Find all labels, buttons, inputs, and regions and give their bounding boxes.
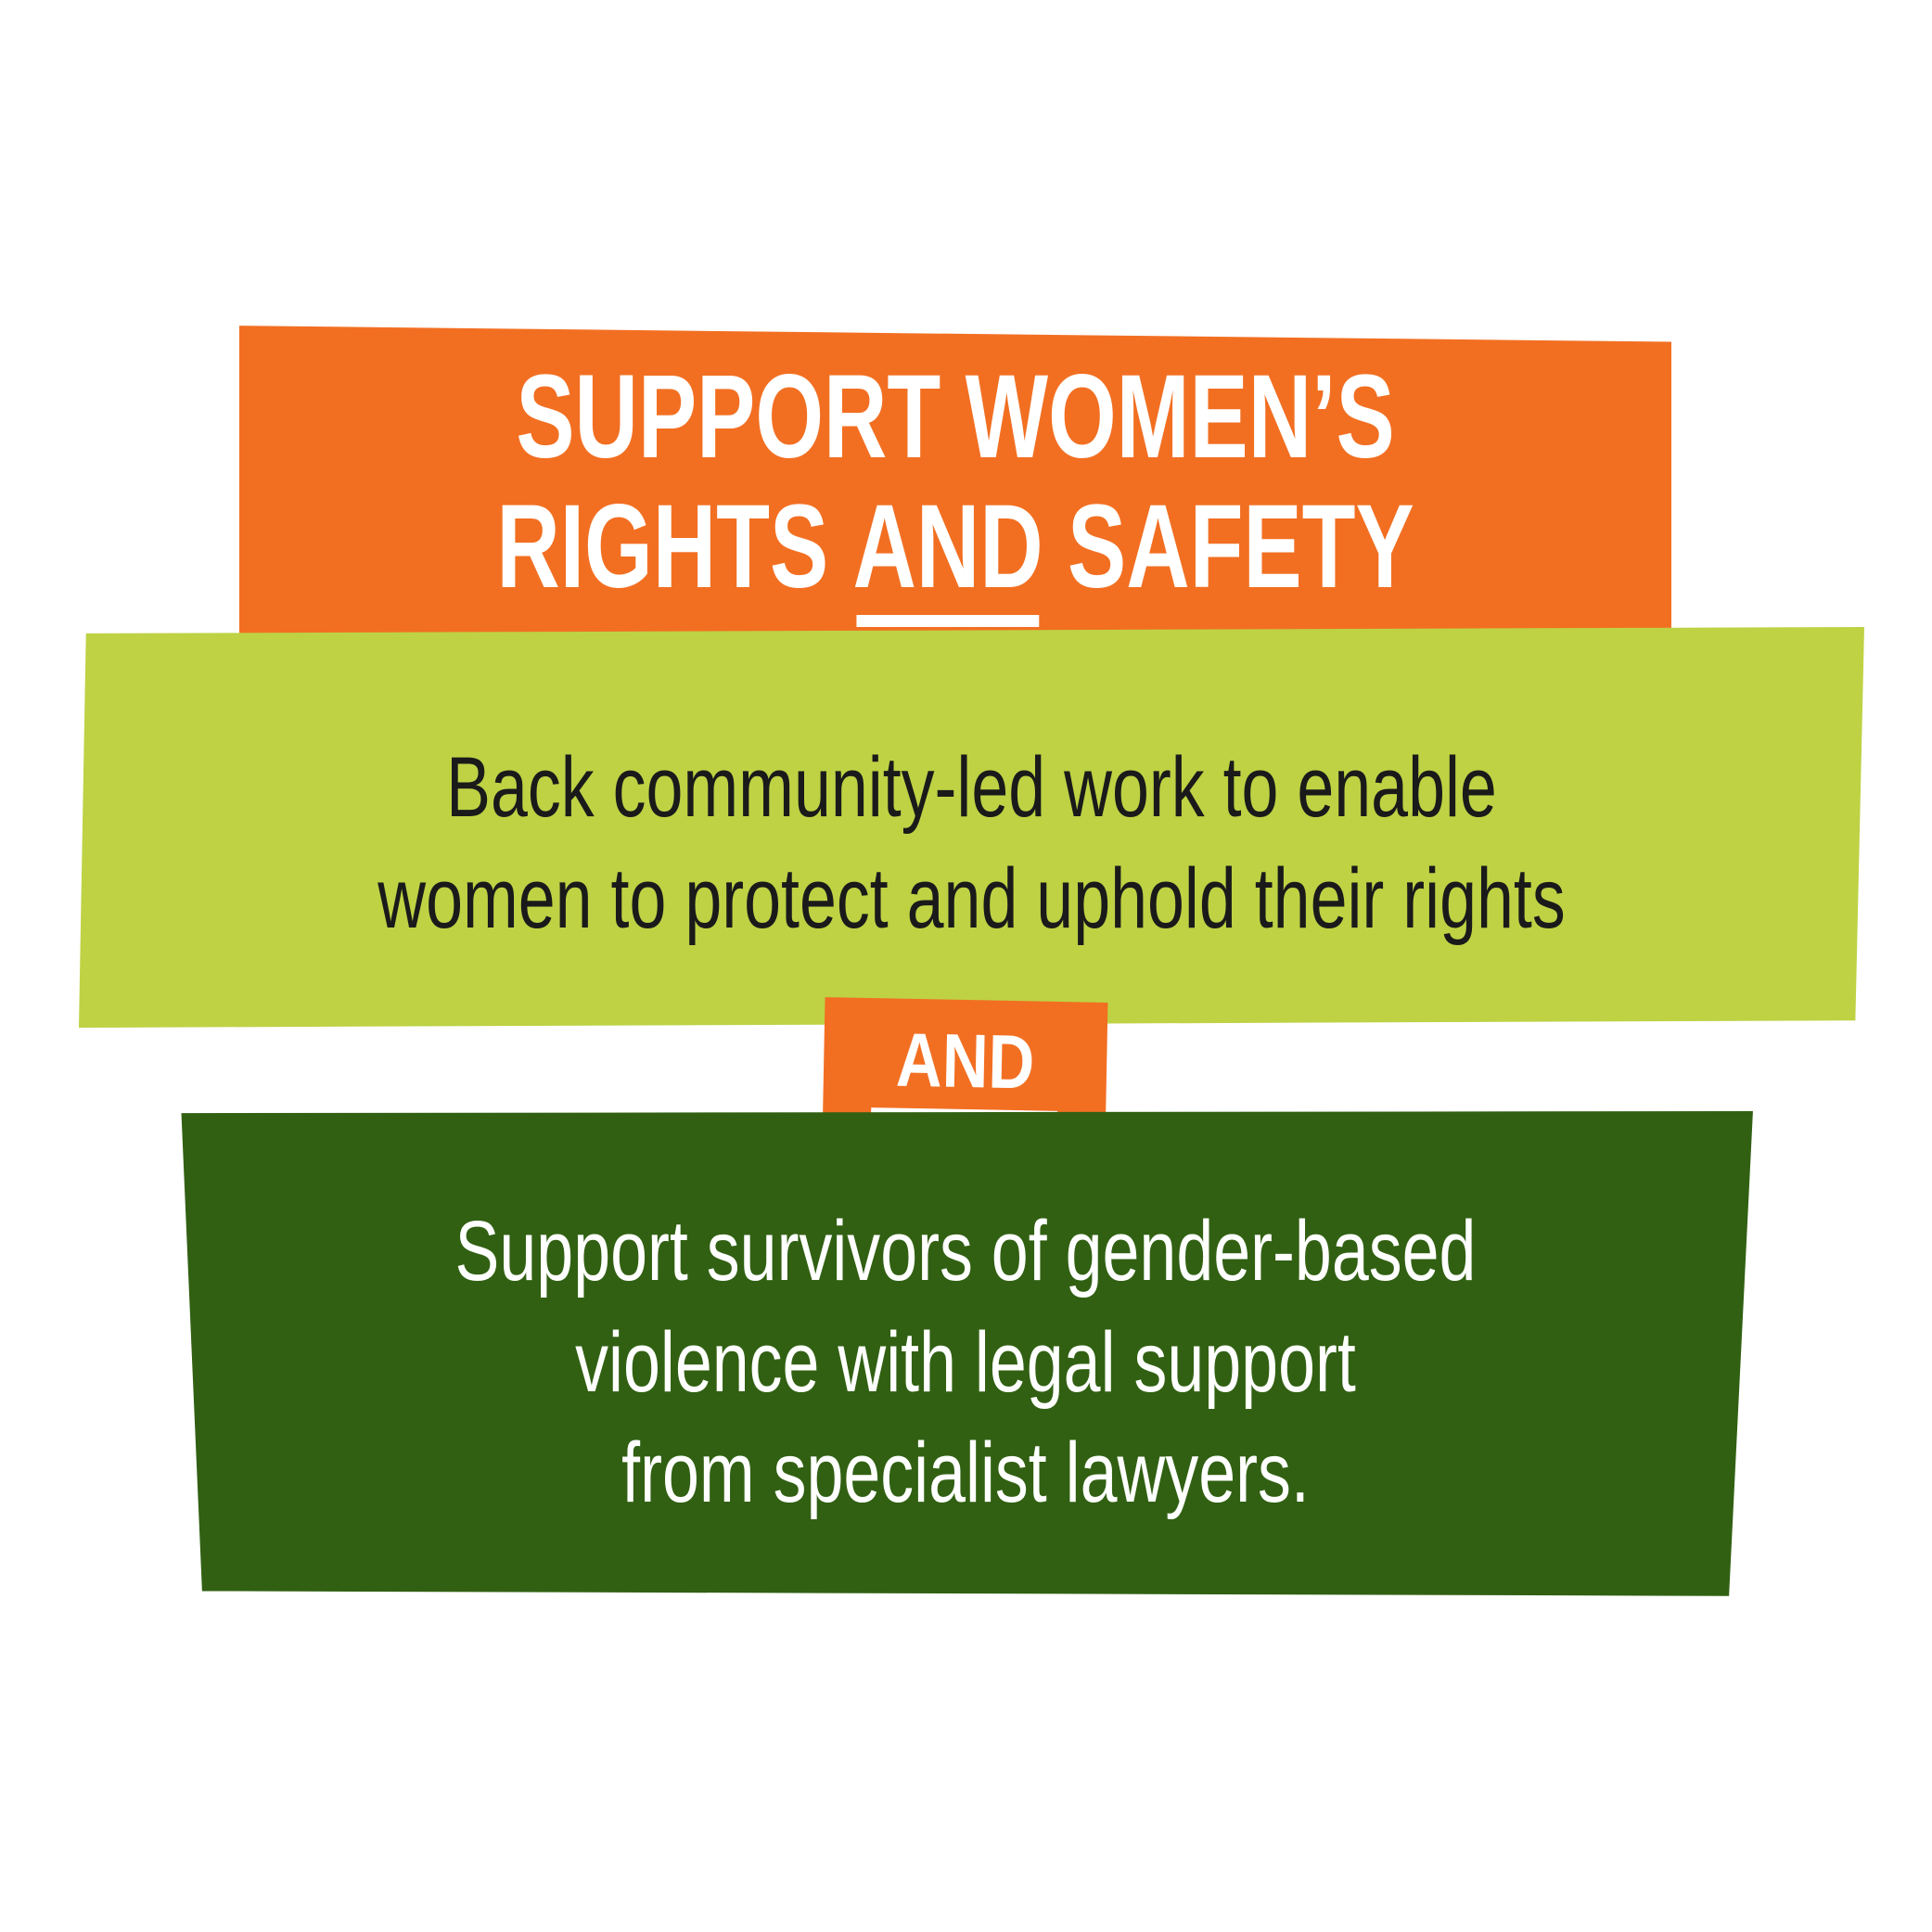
dark-green-text-block: Support survivors of gender-based violen… [167, 1196, 1764, 1529]
header-title-line-2-before: RIGHTS [496, 480, 852, 613]
dark-green-line-3: from specialist lawyers. [342, 1418, 1588, 1529]
dark-green-line-1: Support survivors of gender-based [342, 1196, 1588, 1308]
header-title-line-1: SUPPORT WOMEN’S [426, 358, 1486, 477]
header-title-line-2: RIGHTS AND SAFETY [426, 488, 1486, 607]
header-title-line-2-after: SAFETY [1043, 480, 1414, 613]
header-emphasis-and: AND [852, 488, 1043, 607]
poster-canvas: SUPPORT WOMEN’S RIGHTS AND SAFETY Back c… [0, 0, 1932, 1932]
connector-and-label: AND [846, 1022, 1085, 1103]
light-green-text-block: Back community-led work to enable women … [79, 733, 1864, 954]
dark-green-line-2: violence with legal support [342, 1308, 1588, 1419]
light-green-line-2: women to protect and uphold their rights [275, 844, 1669, 955]
header-title-block: SUPPORT WOMEN’S RIGHTS AND SAFETY [239, 358, 1671, 618]
light-green-line-1: Back community-led work to enable [275, 733, 1669, 844]
